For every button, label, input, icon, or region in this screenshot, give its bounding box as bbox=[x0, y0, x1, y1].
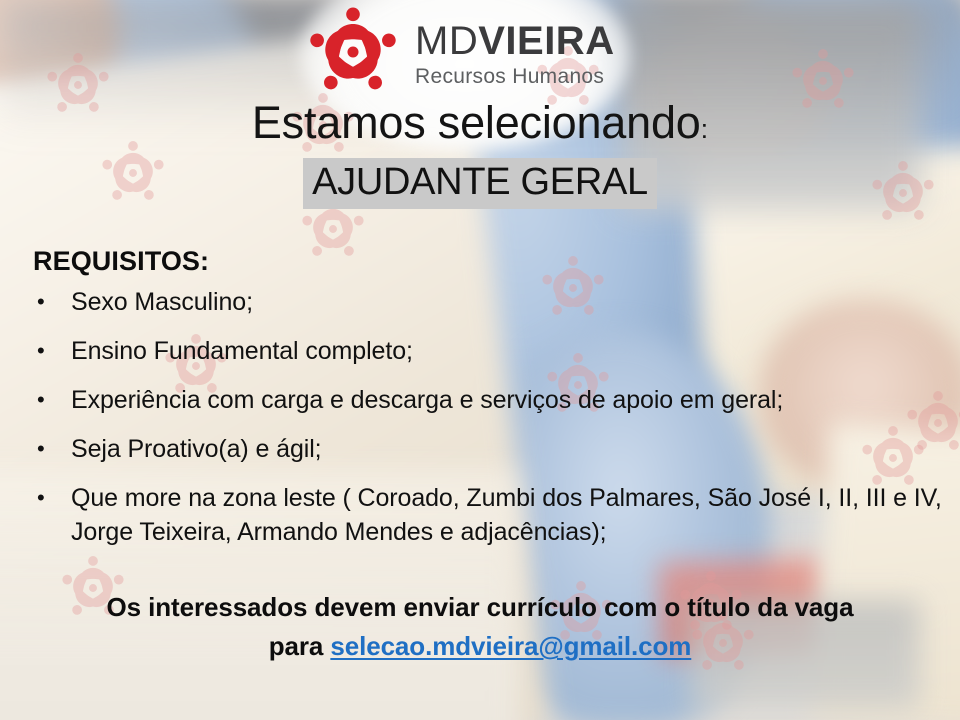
brand-name-bold: VIEIRA bbox=[478, 19, 614, 63]
brand-name-light: MD bbox=[415, 19, 478, 63]
requirement-text: Que more na zona leste ( Coroado, Zumbi … bbox=[71, 481, 948, 549]
requirements-list: •Sexo Masculino;•Ensino Fundamental comp… bbox=[33, 285, 948, 564]
bullet-dot-icon: • bbox=[33, 481, 71, 515]
brand-tagline: Recursos Humanos bbox=[415, 66, 615, 87]
bullet-dot-icon: • bbox=[33, 285, 71, 319]
requirements-heading: REQUISITOS: bbox=[33, 246, 209, 277]
headline-text: Estamos selecionando bbox=[252, 97, 701, 148]
requirement-item: •Experiência com carga e descarga e serv… bbox=[33, 383, 948, 417]
requirement-text: Experiência com carga e descarga e servi… bbox=[71, 383, 783, 417]
role-title-container: AJUDANTE GERAL bbox=[0, 158, 960, 209]
requirement-item: •Que more na zona leste ( Coroado, Zumbi… bbox=[33, 481, 948, 549]
requirement-text: Sexo Masculino; bbox=[71, 285, 253, 319]
requirement-item: •Seja Proativo(a) e ágil; bbox=[33, 432, 948, 466]
requirement-text: Ensino Fundamental completo; bbox=[71, 334, 413, 368]
footer-line-2: para selecao.mdvieira@gmail.com bbox=[0, 627, 960, 666]
bullet-dot-icon: • bbox=[33, 432, 71, 466]
headline: Estamos selecionando: bbox=[0, 97, 960, 149]
requirement-item: •Ensino Fundamental completo; bbox=[33, 334, 948, 368]
bullet-dot-icon: • bbox=[33, 383, 71, 417]
footer-line-2-prefix: para bbox=[269, 631, 331, 661]
headline-colon: : bbox=[701, 114, 709, 144]
brand-name: MDVIEIRA bbox=[415, 21, 615, 61]
application-email-link[interactable]: selecao.mdvieira@gmail.com bbox=[330, 631, 691, 661]
five-people-star-logo-icon bbox=[305, 6, 401, 98]
bullet-dot-icon: • bbox=[33, 334, 71, 368]
requirement-item: •Sexo Masculino; bbox=[33, 285, 948, 319]
requirement-text: Seja Proativo(a) e ágil; bbox=[71, 432, 322, 466]
footer-line-1: Os interessados devem enviar currículo c… bbox=[0, 588, 960, 627]
brand-logo-lockup: MDVIEIRA Recursos Humanos bbox=[305, 6, 615, 98]
role-title: AJUDANTE GERAL bbox=[303, 158, 657, 209]
job-posting-flyer: MDVIEIRA Recursos Humanos Estamos seleci… bbox=[0, 0, 960, 720]
footer-cta: Os interessados devem enviar currículo c… bbox=[0, 588, 960, 666]
